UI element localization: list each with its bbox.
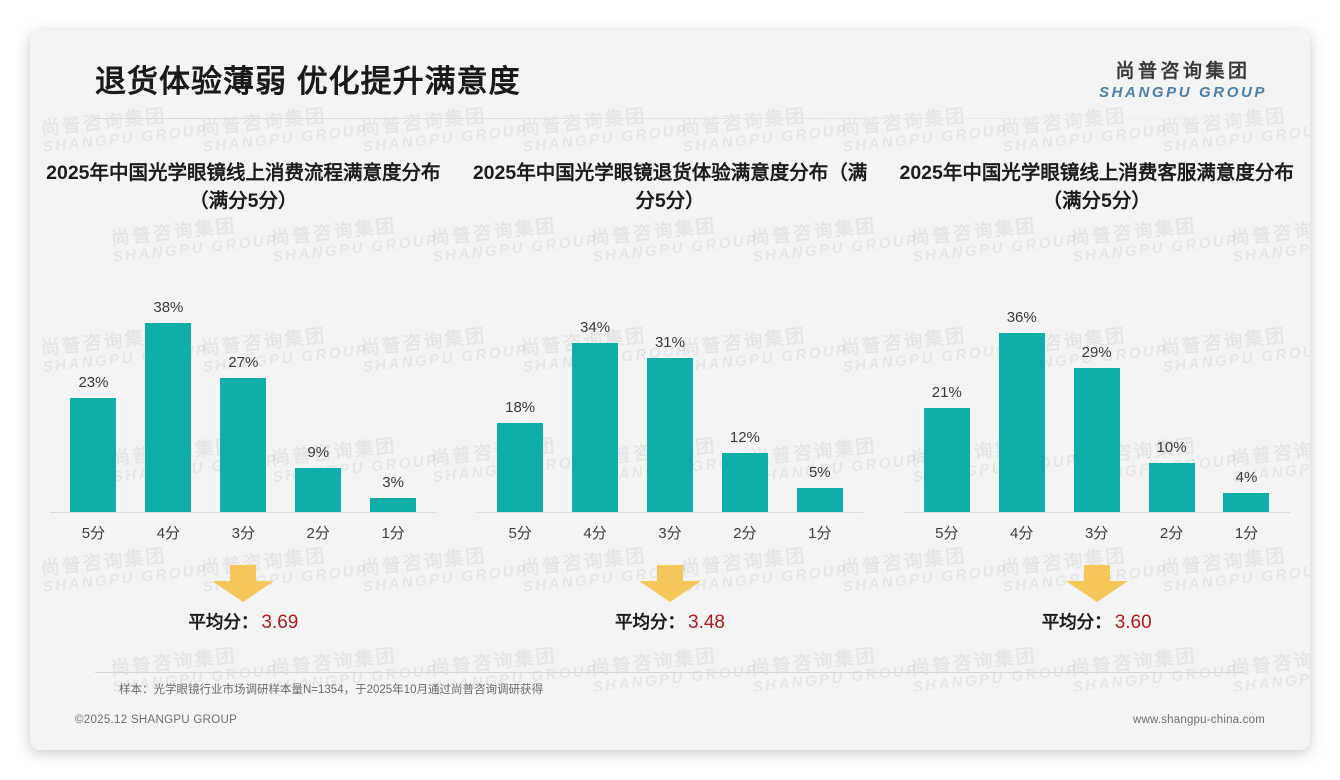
brand-name-cn: 尚普咨询集团 <box>1099 56 1267 83</box>
bar[interactable] <box>295 468 341 513</box>
average-score-value: 3.69 <box>261 612 298 633</box>
brand-name-en: SHANGPU GROUP <box>1099 84 1267 101</box>
bar[interactable] <box>797 488 843 513</box>
bar-value-label: 34% <box>580 319 610 336</box>
copyright-text: ©2025.12 SHANGPU GROUP <box>75 714 237 726</box>
header-divider <box>95 118 1245 119</box>
chart-panel: 2025年中国光学眼镜线上消费流程满意度分布（满分5分）23%38%27%9%3… <box>30 160 457 670</box>
bar[interactable] <box>70 398 116 513</box>
bar[interactable] <box>999 333 1045 513</box>
bar-column[interactable]: 38% <box>133 295 204 513</box>
bar-value-label: 3% <box>382 474 404 491</box>
bar[interactable] <box>497 423 543 513</box>
x-tick-label: 4分 <box>133 522 204 543</box>
x-tick-label: 1分 <box>784 522 855 543</box>
x-tick-label: 1分 <box>1211 522 1282 543</box>
average-score-text: 平均分：3.69 <box>30 609 457 634</box>
bar-column[interactable]: 21% <box>911 295 982 513</box>
bar[interactable] <box>722 453 768 513</box>
bar[interactable] <box>924 408 970 513</box>
slide-header: 退货体验薄弱 优化提升满意度 尚普咨询集团 SHANGPU GROUP <box>30 30 1310 118</box>
bar[interactable] <box>1223 493 1269 513</box>
average-score-label: 平均分： <box>615 612 685 632</box>
bar-column[interactable]: 12% <box>709 295 780 513</box>
x-tick-label: 2分 <box>283 522 354 543</box>
bar[interactable] <box>145 323 191 513</box>
bar-value-label: 9% <box>307 444 329 461</box>
bar-column[interactable]: 18% <box>485 295 556 513</box>
x-tick-label: 3分 <box>208 522 279 543</box>
website-link[interactable]: www.shangpu-china.com <box>1133 714 1265 726</box>
bar-column[interactable]: 29% <box>1061 295 1132 513</box>
average-callout: 平均分：3.60 <box>883 565 1310 645</box>
slide-footer: ©2025.12 SHANGPU GROUP www.shangpu-china… <box>30 700 1310 750</box>
average-score-label: 平均分： <box>188 612 258 632</box>
chart-panel: 2025年中国光学眼镜退货体验满意度分布（满分5分）18%34%31%12%5%… <box>457 160 884 670</box>
plot-area: 18%34%31%12%5% <box>483 263 858 513</box>
chart-title: 2025年中国光学眼镜线上消费客服满意度分布（满分5分） <box>883 160 1310 218</box>
average-score-text: 平均分：3.48 <box>457 609 884 634</box>
average-callout: 平均分：3.69 <box>30 565 457 645</box>
bar-column[interactable]: 9% <box>283 295 354 513</box>
average-callout: 平均分：3.48 <box>457 565 884 645</box>
bar-column[interactable]: 3% <box>358 295 429 513</box>
bar-value-label: 23% <box>78 374 108 391</box>
charts-row: 2025年中国光学眼镜线上消费流程满意度分布（满分5分）23%38%27%9%3… <box>30 160 1310 670</box>
x-tick-label: 5分 <box>58 522 129 543</box>
brand-logo: 尚普咨询集团 SHANGPU GROUP <box>1099 56 1267 101</box>
average-score-value: 3.60 <box>1115 612 1152 633</box>
down-arrow-icon <box>210 565 276 603</box>
bar-value-label: 12% <box>730 429 760 446</box>
average-score-value: 3.48 <box>688 612 725 633</box>
x-axis-labels: 5分4分3分2分1分 <box>56 522 431 543</box>
x-axis-line <box>50 512 437 513</box>
average-score-text: 平均分：3.60 <box>883 609 1310 634</box>
page-title: 退货体验薄弱 优化提升满意度 <box>95 56 521 101</box>
x-axis-labels: 5分4分3分2分1分 <box>909 522 1284 543</box>
bar-column[interactable]: 27% <box>208 295 279 513</box>
bar[interactable] <box>1149 463 1195 513</box>
bar[interactable] <box>370 498 416 513</box>
bar-value-label: 38% <box>153 299 183 316</box>
bar[interactable] <box>647 358 693 513</box>
bar-value-label: 21% <box>932 384 962 401</box>
bar-series: 23%38%27%9%3% <box>56 295 431 513</box>
average-score-label: 平均分： <box>1042 612 1112 632</box>
bar[interactable] <box>1074 368 1120 513</box>
x-tick-label: 2分 <box>1136 522 1207 543</box>
bar-column[interactable]: 36% <box>986 295 1057 513</box>
bar-value-label: 36% <box>1007 309 1037 326</box>
x-axis-line <box>903 512 1290 513</box>
plot-area: 23%38%27%9%3% <box>56 263 431 513</box>
x-tick-label: 1分 <box>358 522 429 543</box>
bar-column[interactable]: 23% <box>58 295 129 513</box>
bar[interactable] <box>220 378 266 513</box>
bar-column[interactable]: 34% <box>559 295 630 513</box>
plot-area: 21%36%29%10%4% <box>909 263 1284 513</box>
x-tick-label: 4分 <box>559 522 630 543</box>
bar-column[interactable]: 4% <box>1211 295 1282 513</box>
bar-value-label: 4% <box>1236 469 1258 486</box>
bar-value-label: 18% <box>505 399 535 416</box>
x-tick-label: 5分 <box>911 522 982 543</box>
chart-title: 2025年中国光学眼镜线上消费流程满意度分布（满分5分） <box>30 160 457 218</box>
bar-value-label: 5% <box>809 464 831 481</box>
bar-value-label: 29% <box>1082 344 1112 361</box>
bar-series: 18%34%31%12%5% <box>483 295 858 513</box>
x-tick-label: 5分 <box>485 522 556 543</box>
x-axis-line <box>477 512 864 513</box>
bar[interactable] <box>572 343 618 513</box>
x-tick-label: 4分 <box>986 522 1057 543</box>
bar-series: 21%36%29%10%4% <box>909 295 1284 513</box>
x-tick-label: 3分 <box>634 522 705 543</box>
bar-value-label: 10% <box>1157 439 1187 456</box>
bar-column[interactable]: 10% <box>1136 295 1207 513</box>
slide-canvas: 尚普咨询集团SHANGPU GROUP尚普咨询集团SHANGPU GROUP尚普… <box>30 30 1310 750</box>
bar-value-label: 27% <box>228 354 258 371</box>
bar-value-label: 31% <box>655 334 685 351</box>
x-tick-label: 3分 <box>1061 522 1132 543</box>
chart-title: 2025年中国光学眼镜退货体验满意度分布（满分5分） <box>457 160 884 218</box>
down-arrow-icon <box>1064 565 1130 603</box>
bar-column[interactable]: 5% <box>784 295 855 513</box>
chart-panel: 2025年中国光学眼镜线上消费客服满意度分布（满分5分）21%36%29%10%… <box>883 160 1310 670</box>
bar-column[interactable]: 31% <box>634 295 705 513</box>
x-axis-labels: 5分4分3分2分1分 <box>483 522 858 543</box>
x-tick-label: 2分 <box>709 522 780 543</box>
down-arrow-icon <box>637 565 703 603</box>
